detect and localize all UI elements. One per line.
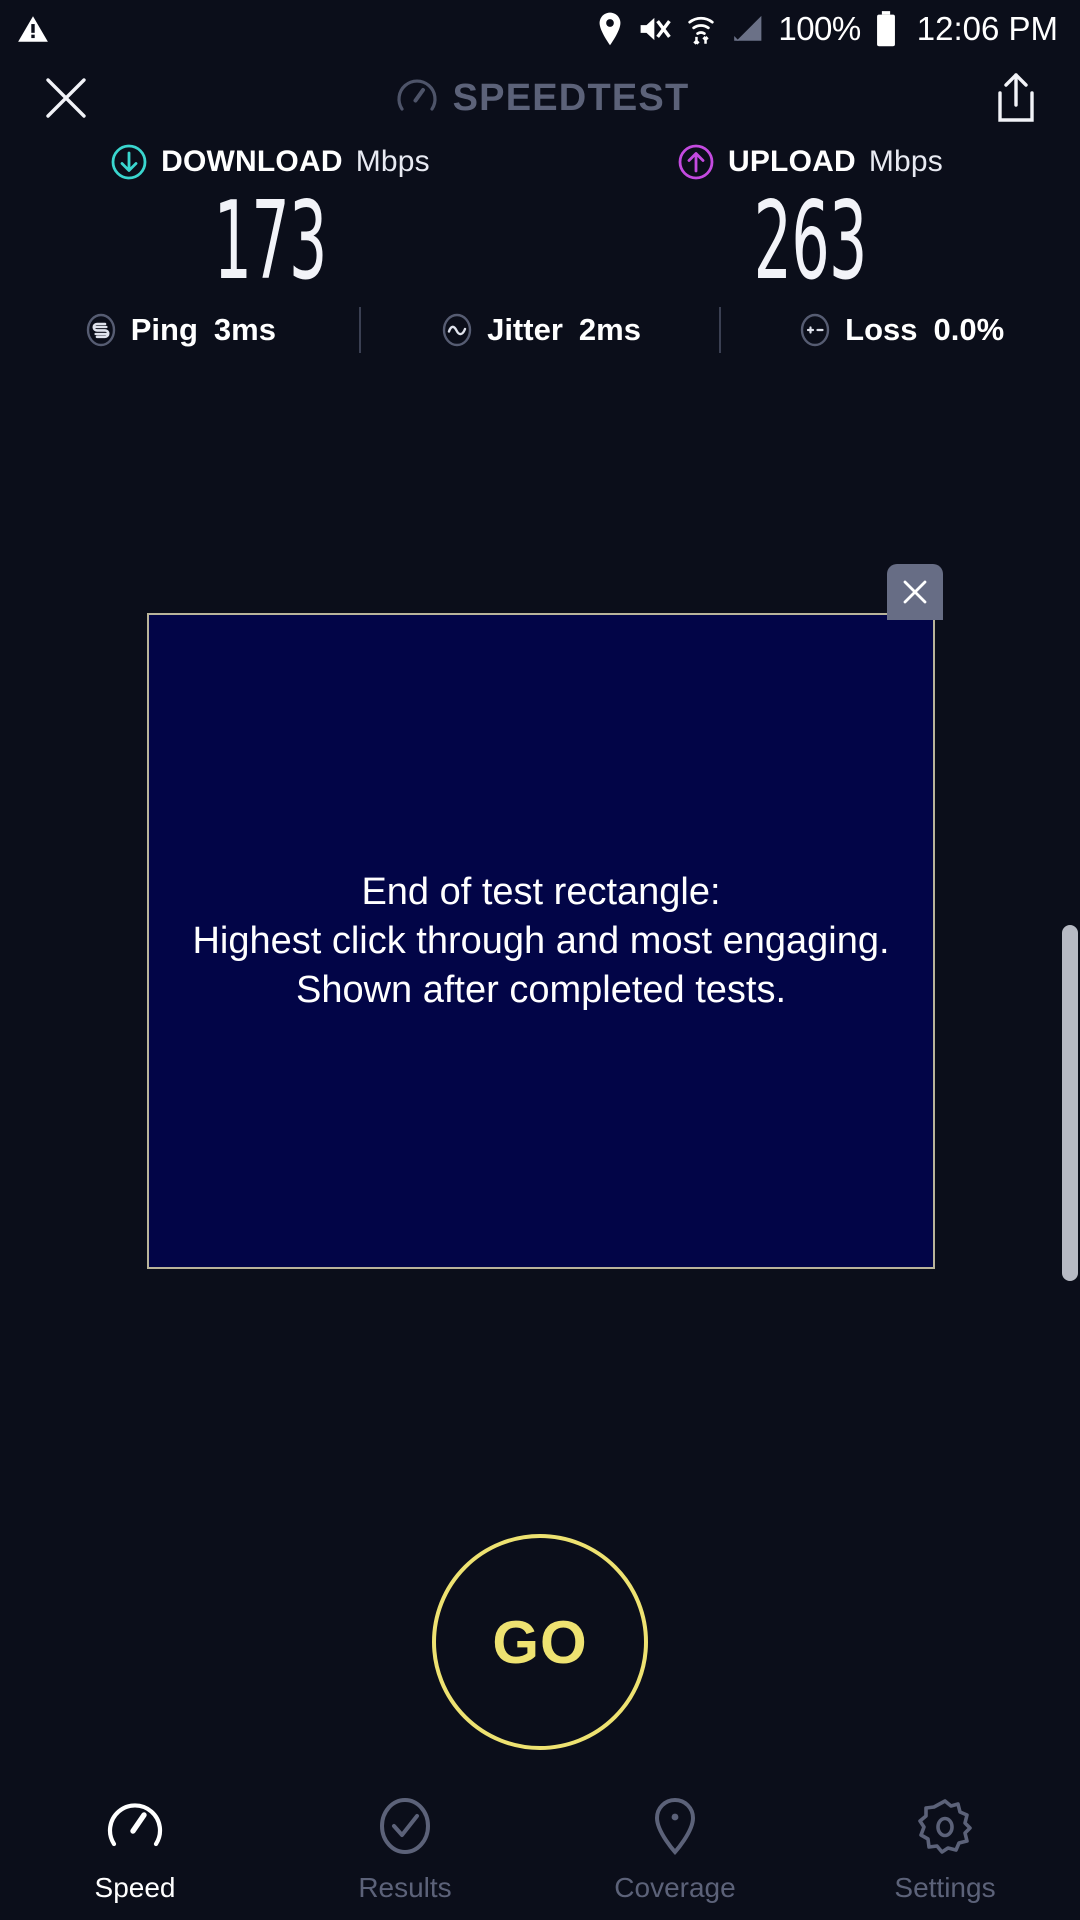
upload-value: 263 — [753, 188, 866, 296]
nav-item-results[interactable]: Results — [270, 1780, 540, 1904]
warning-triangle-icon — [16, 12, 50, 46]
battery-full-icon — [875, 11, 897, 47]
mute-icon — [638, 13, 672, 45]
go-button[interactable]: GO — [432, 1534, 648, 1750]
speed-row: DOWNLOAD Mbps 173 UPLOAD Mbps 263 — [0, 140, 1080, 296]
loss-value: 0.0% — [934, 312, 1005, 348]
upload-label-group: UPLOAD Mbps — [677, 140, 943, 184]
share-icon[interactable] — [992, 71, 1040, 125]
check-circle-icon — [373, 1794, 437, 1858]
location-pin-icon — [643, 1794, 707, 1858]
upload-arrow-icon — [677, 143, 715, 181]
nav-label-speed: Speed — [95, 1872, 176, 1904]
nav-label-coverage: Coverage — [614, 1872, 735, 1904]
status-bar: 100% 12:06 PM — [0, 0, 1080, 58]
download-unit: Mbps — [356, 145, 430, 179]
go-button-label: GO — [492, 1608, 587, 1677]
nav-item-speed[interactable]: Speed — [0, 1780, 270, 1904]
download-label: DOWNLOAD — [161, 145, 343, 179]
status-bar-right: 100% 12:06 PM — [596, 10, 1058, 48]
download-arrow-icon — [110, 143, 148, 181]
metric-jitter: Jitter 2ms — [361, 312, 720, 348]
battery-percent: 100% — [778, 10, 860, 48]
cell-signal-icon — [730, 13, 764, 45]
nav-label-settings: Settings — [894, 1872, 995, 1904]
ad-text: End of test rectangle: Highest click thr… — [192, 868, 889, 1015]
download-result: DOWNLOAD Mbps 173 — [0, 140, 540, 296]
loss-label: Loss — [845, 312, 917, 348]
ping-value: 3ms — [214, 312, 276, 348]
download-label-group: DOWNLOAD Mbps — [110, 140, 430, 184]
metric-loss: Loss 0.0% — [721, 312, 1080, 348]
status-bar-left — [16, 12, 50, 46]
nav-item-coverage[interactable]: Coverage — [540, 1780, 810, 1904]
app-brand: SPEEDTEST — [395, 76, 690, 120]
download-value: 173 — [213, 188, 326, 296]
loss-icon — [797, 312, 833, 348]
jitter-value: 2ms — [579, 312, 641, 348]
upload-unit: Mbps — [869, 145, 943, 179]
jitter-icon — [439, 312, 475, 348]
nav-item-settings[interactable]: Settings — [810, 1780, 1080, 1904]
speedometer-icon — [395, 76, 439, 120]
metrics-row: Ping 3ms Jitter 2ms Los — [0, 300, 1080, 360]
app-title: SPEEDTEST — [453, 77, 690, 120]
upload-label: UPLOAD — [728, 145, 856, 179]
ping-label: Ping — [131, 312, 198, 348]
status-bar-clock: 12:06 PM — [917, 10, 1058, 48]
advertisement-banner[interactable]: End of test rectangle: Highest click thr… — [147, 613, 935, 1269]
location-pin-icon — [596, 12, 624, 46]
nav-label-results: Results — [358, 1872, 451, 1904]
test-results: DOWNLOAD Mbps 173 UPLOAD Mbps 263 — [0, 140, 1080, 296]
ad-close-button[interactable] — [887, 564, 943, 620]
app-header: SPEEDTEST — [0, 58, 1080, 138]
speedtest-app-screen: 100% 12:06 PM SPEEDTEST — [0, 0, 1080, 1920]
scrollbar-thumb[interactable] — [1062, 925, 1078, 1281]
metric-ping: Ping 3ms — [0, 312, 359, 348]
close-icon[interactable] — [40, 72, 92, 124]
gear-icon — [913, 1794, 977, 1858]
speedometer-icon — [103, 1794, 167, 1858]
wifi-icon — [686, 12, 716, 46]
bottom-navigation: Speed Results Coverage — [0, 1780, 1080, 1920]
upload-result: UPLOAD Mbps 263 — [540, 140, 1080, 296]
ping-icon — [83, 312, 119, 348]
jitter-label: Jitter — [487, 312, 563, 348]
